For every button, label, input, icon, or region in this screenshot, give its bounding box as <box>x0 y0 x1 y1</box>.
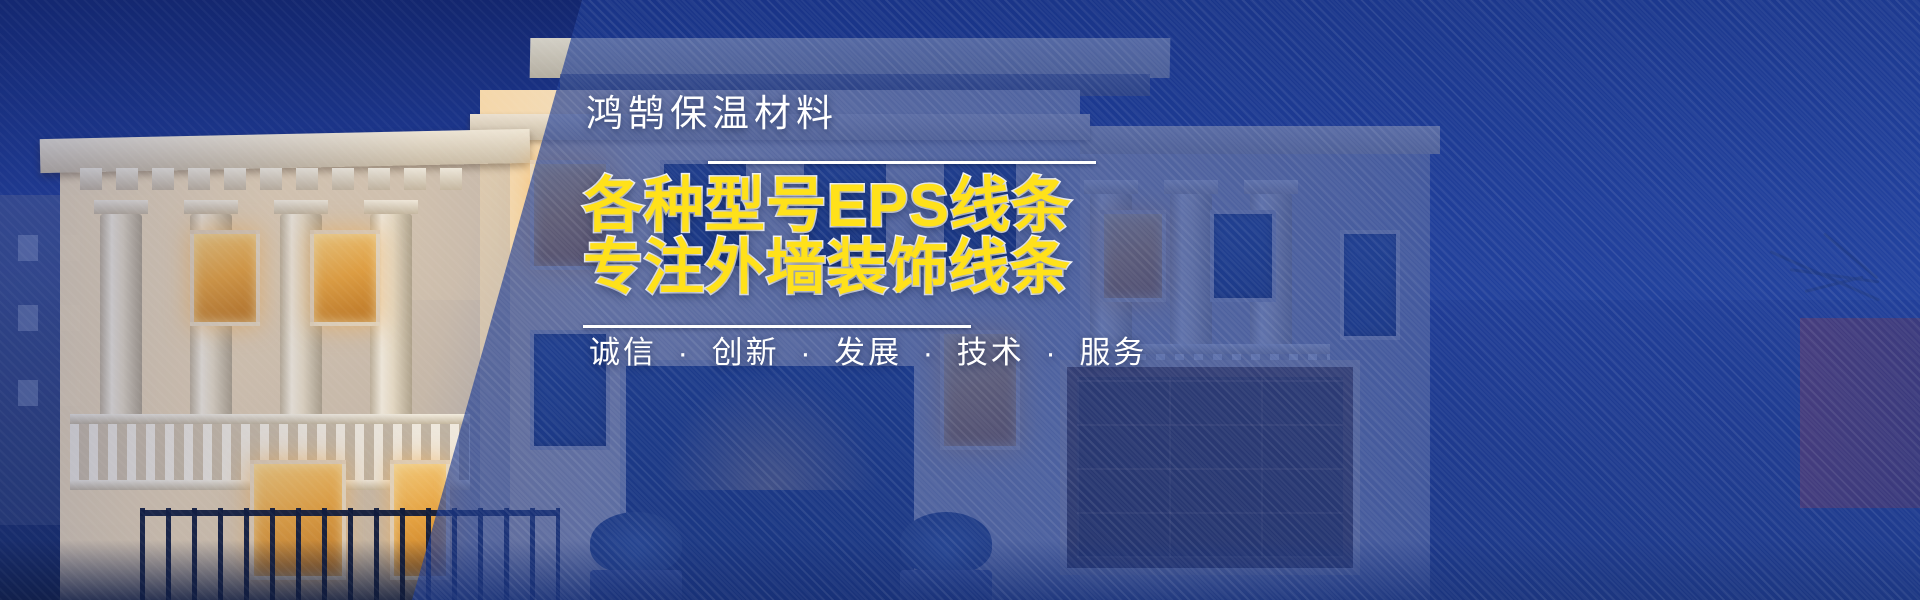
tagline-item-1: 创新 <box>712 335 780 370</box>
tagline-separator-1: · <box>791 335 822 370</box>
promo-banner: 鸿鹄保温材料 各种型号EPS线条 专注外墙装饰线条 诚信 · 创新 · 发展 ·… <box>0 0 1920 600</box>
tagline-separator-3: · <box>1036 335 1067 370</box>
tagline-separator-0: · <box>669 335 700 370</box>
tagline-item-0: 诚信 <box>589 335 657 370</box>
headline-line-1: 各种型号EPS线条 <box>583 172 1072 239</box>
brand-eyebrow: 鸿鹄保温材料 <box>583 95 1583 132</box>
tagline-item-4: 服务 <box>1079 335 1147 370</box>
divider-bottom <box>583 325 971 328</box>
tagline-item-2: 发展 <box>834 335 902 370</box>
headline: 各种型号EPS线条 专注外墙装饰线条 <box>583 175 1583 299</box>
tagline: 诚信 · 创新 · 发展 · 技术 · 服务 <box>583 337 1583 368</box>
tagline-item-3: 技术 <box>957 335 1025 370</box>
banner-copy-block: 鸿鹄保温材料 各种型号EPS线条 专注外墙装饰线条 诚信 · 创新 · 发展 ·… <box>583 95 1583 368</box>
headline-line-2: 专注外墙装饰线条 <box>583 237 1583 299</box>
tagline-separator-2: · <box>914 335 945 370</box>
divider-top <box>708 161 1096 164</box>
